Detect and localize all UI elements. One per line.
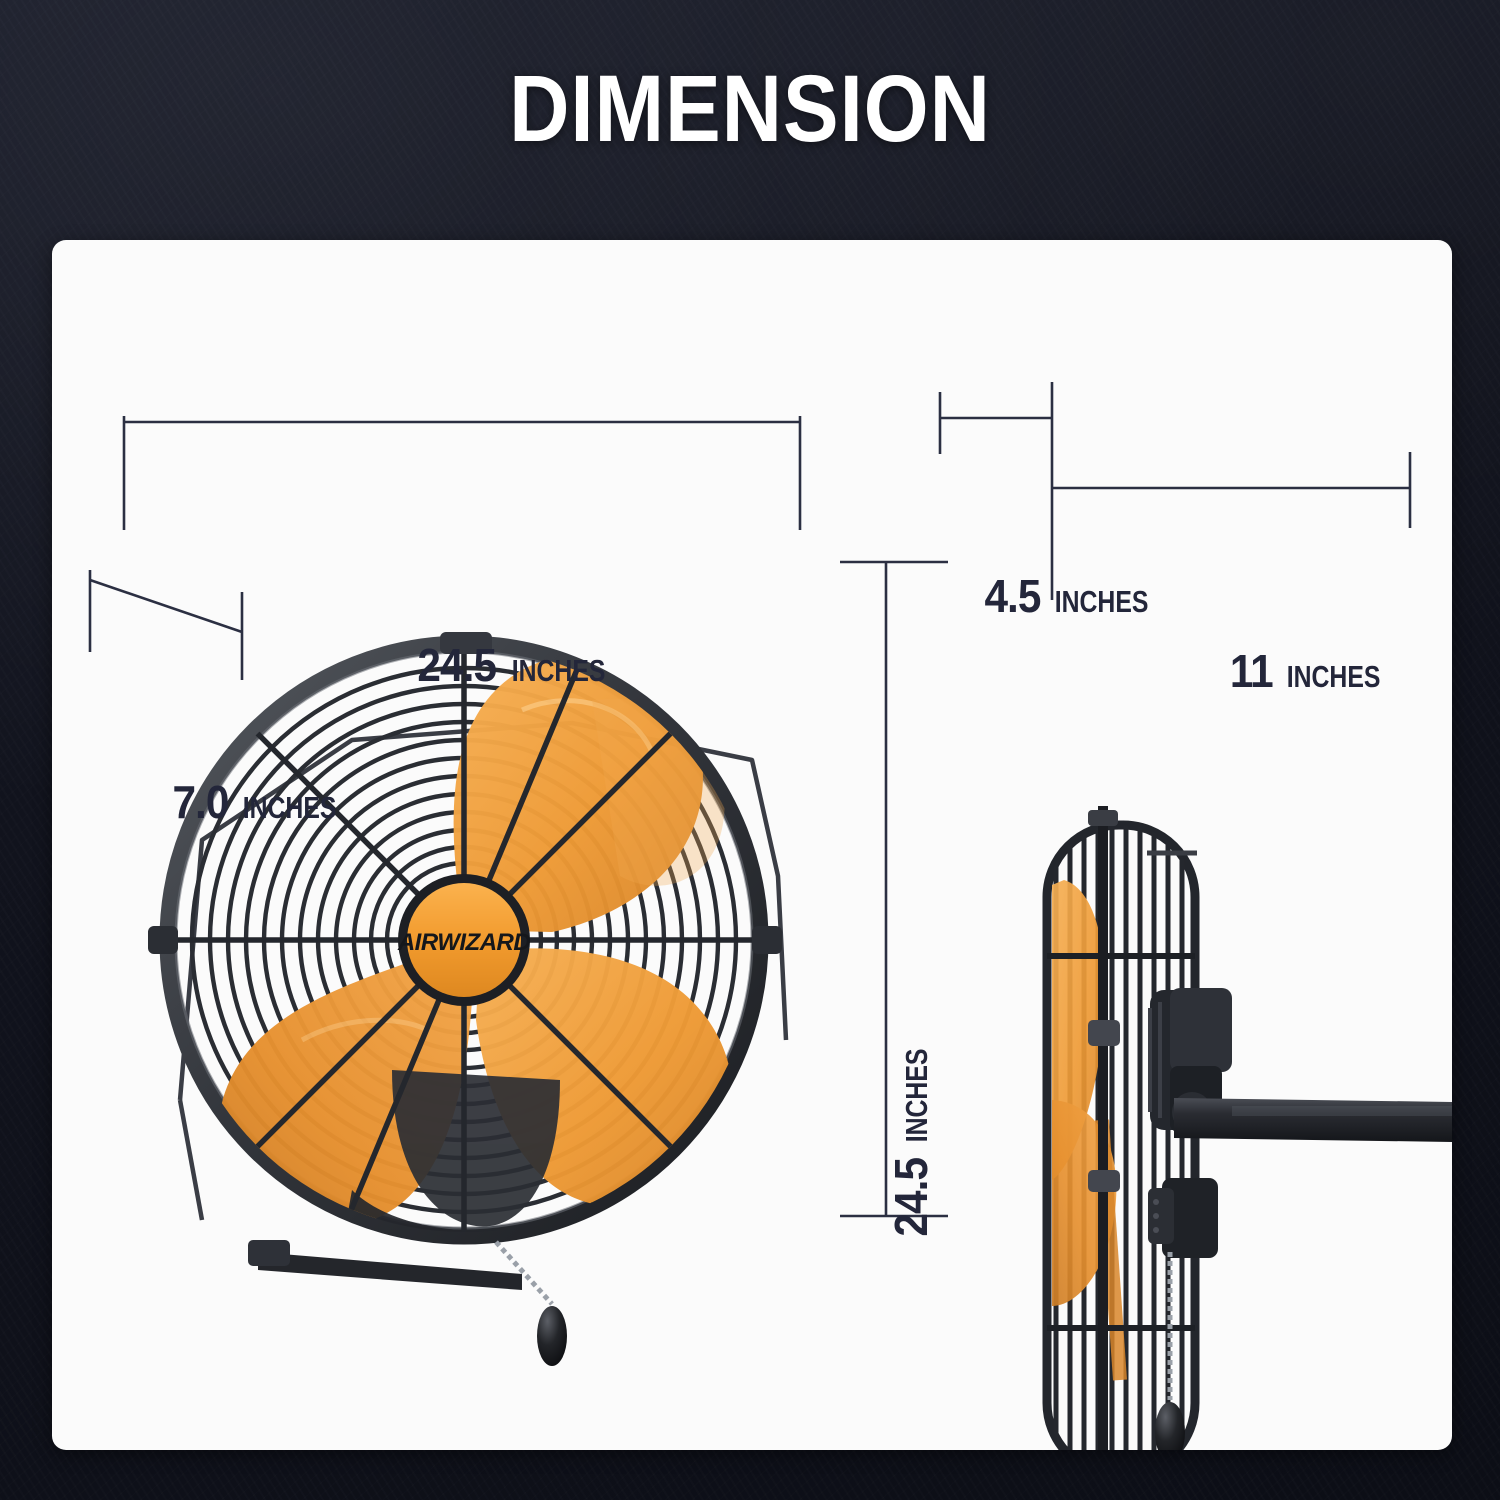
dimension-label-mount-arm-span: 11INCHES bbox=[1228, 648, 1392, 694]
guard-clip-left bbox=[148, 926, 178, 954]
front-view-fan: AIRWIZARD bbox=[148, 632, 786, 1366]
dimension-label-cage-depth: 4.5INCHES bbox=[982, 573, 1160, 619]
dimension-infographic: DIMENSION bbox=[0, 0, 1500, 1500]
dimension-value: 4.5 bbox=[984, 573, 1040, 619]
side-switch-box bbox=[1148, 1178, 1218, 1258]
dimension-label-overall-width: 24.5INCHES bbox=[414, 642, 617, 688]
pull-knob-front bbox=[537, 1306, 567, 1366]
dimension-unit: INCHES bbox=[901, 1049, 932, 1143]
dimension-value: 24.5 bbox=[888, 1158, 934, 1237]
brand-logo-text: AIRWIZARD bbox=[397, 929, 531, 956]
dimension-unit: INCHES bbox=[243, 792, 337, 823]
dimension-unit: INCHES bbox=[511, 655, 605, 686]
page-title: DIMENSION bbox=[90, 62, 1410, 157]
dimension-value: 11 bbox=[1230, 648, 1273, 694]
product-artwork: AIRWIZARD bbox=[52, 240, 1452, 1450]
tilt-bracket bbox=[248, 1240, 522, 1290]
dimension-unit: INCHES bbox=[1286, 661, 1380, 692]
dimension-value: 7.0 bbox=[172, 779, 228, 825]
dimension-label-guard-depth: 7.0INCHES bbox=[170, 779, 348, 825]
pull-chain-front bbox=[496, 1242, 567, 1366]
dimension-unit: INCHES bbox=[1055, 586, 1149, 617]
guard-clip-right bbox=[752, 926, 782, 954]
dimension-label-overall-height: 24.5INCHES bbox=[888, 1037, 934, 1240]
dimension-value: 24.5 bbox=[417, 642, 496, 688]
mount-arm bbox=[1174, 1098, 1452, 1142]
diagram-card: AIRWIZARD bbox=[52, 240, 1452, 1450]
side-cage-spine bbox=[1098, 806, 1108, 1450]
side-view-fan bbox=[1040, 806, 1452, 1450]
